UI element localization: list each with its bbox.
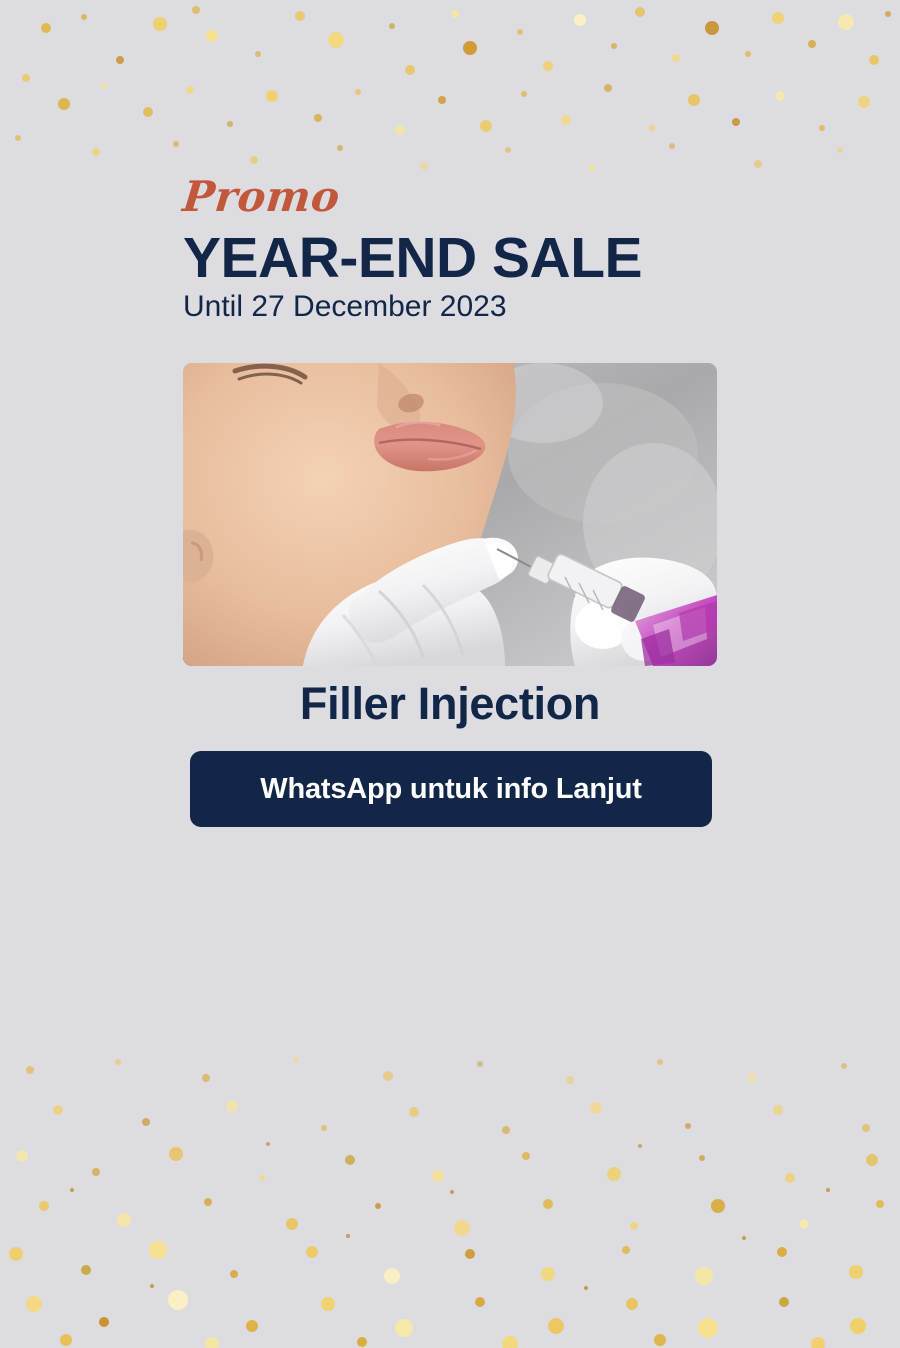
promo-validity-date: Until 27 December 2023 (183, 290, 723, 325)
page-title: YEAR-END SALE (183, 228, 723, 288)
promo-eyebrow: Promo (181, 176, 725, 218)
service-title: Filler Injection (0, 678, 900, 730)
gold-confetti-top (0, 0, 900, 190)
filler-injection-photo (183, 363, 717, 666)
promo-poster: Promo YEAR-END SALE Until 27 December 20… (0, 0, 900, 1348)
discount-block: SPECIAL DISC. (0, 890, 900, 1190)
confetti-top-svg (0, 0, 900, 190)
filler-injection-illustration (183, 363, 717, 666)
poster-header: Promo YEAR-END SALE Until 27 December 20… (183, 176, 723, 325)
whatsapp-cta-label: WhatsApp untuk info Lanjut (260, 773, 641, 806)
whatsapp-cta-button[interactable]: WhatsApp untuk info Lanjut (190, 751, 712, 827)
